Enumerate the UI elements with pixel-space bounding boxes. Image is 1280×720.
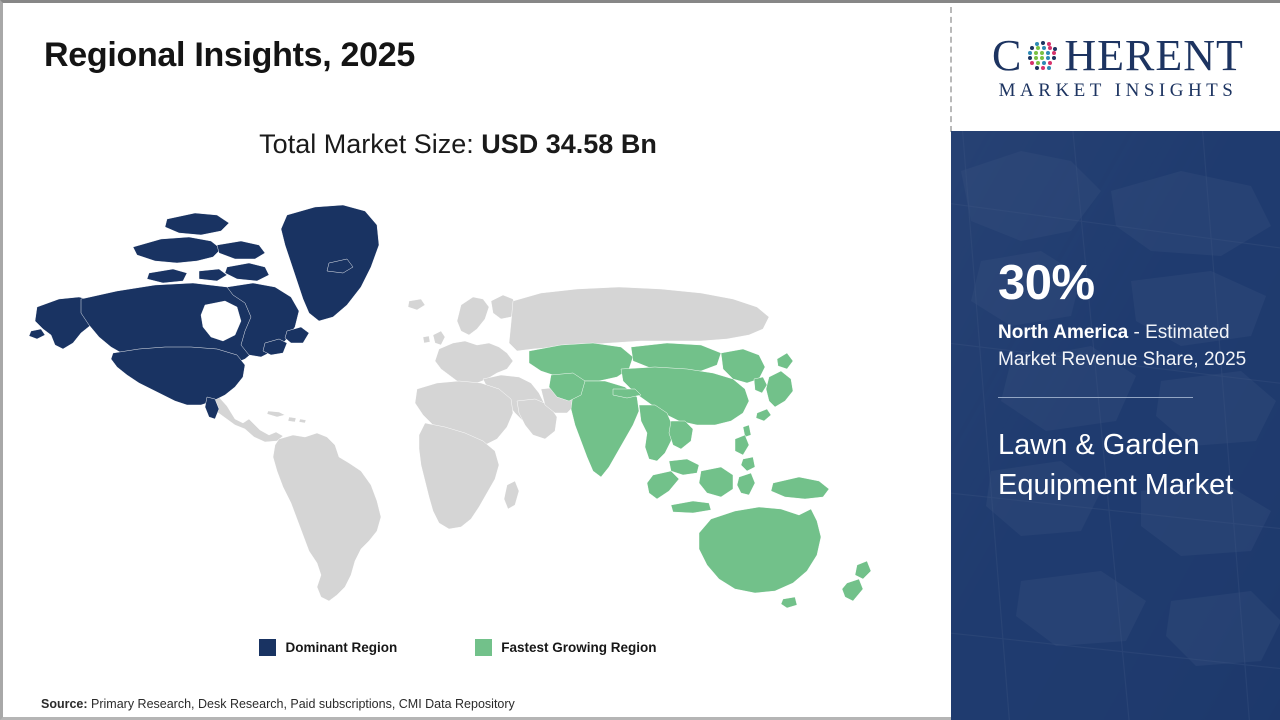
panel-divider-rule bbox=[998, 397, 1193, 398]
globe-dots-icon bbox=[1023, 36, 1063, 76]
source-note: Source: Primary Research, Desk Research,… bbox=[41, 697, 515, 711]
legend-item-dominant: Dominant Region bbox=[259, 639, 397, 656]
panel-content: 30% North America - Estimated Market Rev… bbox=[951, 131, 1280, 720]
map-legend: Dominant Region Fastest Growing Region bbox=[3, 639, 913, 656]
legend-item-fastest-growing: Fastest Growing Region bbox=[475, 639, 656, 656]
logo-brand-right: HERENT bbox=[1064, 34, 1244, 78]
logo-brand-left: C bbox=[992, 34, 1022, 78]
map-region-north-america bbox=[29, 205, 379, 419]
legend-label-dominant: Dominant Region bbox=[285, 640, 397, 655]
brand-logo: C bbox=[953, 6, 1280, 130]
map-region-asia-pacific bbox=[529, 343, 871, 608]
stat-description: North America - Estimated Market Revenue… bbox=[998, 319, 1255, 373]
fastest-growing-region-swatch bbox=[475, 639, 492, 656]
page-title: Regional Insights, 2025 bbox=[44, 36, 415, 75]
main-content-area: Regional Insights, 2025 Total Market Siz… bbox=[3, 3, 950, 720]
market-size-label: Total Market Size: bbox=[259, 129, 481, 159]
side-stat-panel: 30% North America - Estimated Market Rev… bbox=[951, 131, 1280, 720]
logo-wordmark: C bbox=[992, 34, 1244, 78]
legend-label-fastest-growing: Fastest Growing Region bbox=[501, 640, 656, 655]
vertical-dashed-divider bbox=[950, 7, 952, 132]
stat-percentage: 30% bbox=[998, 259, 1255, 308]
logo-tagline: MARKET INSIGHTS bbox=[999, 80, 1238, 102]
total-market-size: Total Market Size: USD 34.58 Bn bbox=[3, 129, 913, 160]
world-map-svg bbox=[21, 183, 901, 623]
market-size-value: USD 34.58 Bn bbox=[481, 129, 657, 159]
world-map bbox=[21, 183, 901, 623]
infographic-frame: Regional Insights, 2025 Total Market Siz… bbox=[0, 0, 1280, 720]
market-title: Lawn & Garden Equipment Market bbox=[998, 426, 1255, 505]
source-text: Primary Research, Desk Research, Paid su… bbox=[88, 697, 515, 711]
source-label: Source: bbox=[41, 697, 88, 711]
stat-region-name: North America bbox=[998, 322, 1128, 343]
dominant-region-swatch bbox=[259, 639, 276, 656]
